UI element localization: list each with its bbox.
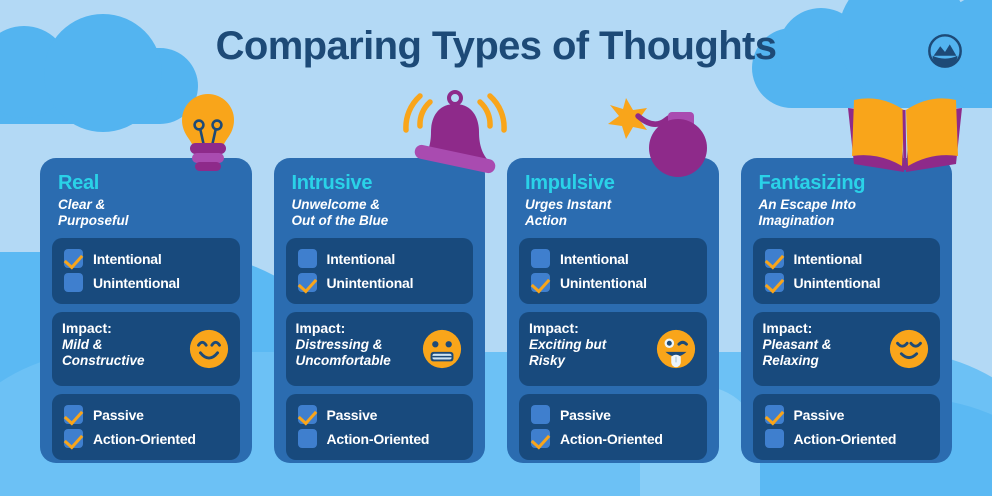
option-passive[interactable]: Passive bbox=[64, 403, 230, 427]
option-passive[interactable]: Passive bbox=[765, 403, 931, 427]
bomb-icon bbox=[602, 86, 718, 178]
checkbox-action-oriented[interactable] bbox=[298, 429, 317, 448]
checkbox-intentional[interactable] bbox=[64, 249, 83, 268]
page-title: Comparing Types of Thoughts bbox=[0, 24, 992, 69]
impact-label: Impact: bbox=[529, 320, 649, 336]
impact-label: Impact: bbox=[296, 320, 416, 336]
option-label: Unintentional bbox=[327, 275, 414, 291]
card-header: Intrusive Unwelcome & Out of the Blue bbox=[286, 172, 474, 230]
option-unintentional[interactable]: Unintentional bbox=[531, 271, 697, 295]
option-action-oriented[interactable]: Action-Oriented bbox=[64, 427, 230, 451]
impact-text: Impact: Distressing & Uncomfortable bbox=[296, 320, 422, 370]
checkbox-passive[interactable] bbox=[298, 405, 317, 424]
card-header: Real Clear & Purposeful bbox=[52, 172, 240, 230]
impact-value: Exciting but Risky bbox=[529, 337, 649, 370]
checkbox-intentional[interactable] bbox=[298, 249, 317, 268]
open-book-icon bbox=[842, 92, 968, 174]
impact-value: Mild & Constructive bbox=[62, 337, 182, 370]
action-panel: Passive Action-Oriented bbox=[52, 394, 240, 460]
impact-panel: Impact: Mild & Constructive bbox=[52, 312, 240, 386]
option-unintentional[interactable]: Unintentional bbox=[298, 271, 464, 295]
option-passive[interactable]: Passive bbox=[298, 403, 464, 427]
option-intentional[interactable]: Intentional bbox=[531, 247, 697, 271]
thought-card-fantasizing[interactable]: Fantasizing An Escape Into Imagination I… bbox=[741, 158, 953, 463]
thought-card-intrusive[interactable]: Intrusive Unwelcome & Out of the Blue In… bbox=[274, 158, 486, 463]
option-label: Intentional bbox=[93, 251, 162, 267]
checkbox-unintentional[interactable] bbox=[531, 273, 550, 292]
option-label: Passive bbox=[93, 407, 144, 423]
option-unintentional[interactable]: Unintentional bbox=[765, 271, 931, 295]
option-label: Intentional bbox=[794, 251, 863, 267]
impact-value: Distressing & Uncomfortable bbox=[296, 337, 416, 370]
card-title: Fantasizing bbox=[759, 172, 937, 194]
option-label: Action-Oriented bbox=[560, 431, 663, 447]
option-label: Action-Oriented bbox=[794, 431, 897, 447]
grimacing-face-icon bbox=[421, 328, 463, 370]
impact-value: Pleasant & Relaxing bbox=[763, 337, 883, 370]
impact-panel: Impact: Distressing & Uncomfortable bbox=[286, 312, 474, 386]
option-label: Passive bbox=[794, 407, 845, 423]
card-subtitle: Unwelcome & Out of the Blue bbox=[292, 197, 470, 230]
checkbox-unintentional[interactable] bbox=[298, 273, 317, 292]
smiling-face-icon bbox=[188, 328, 230, 370]
relieved-face-icon bbox=[888, 328, 930, 370]
card-title: Real bbox=[58, 172, 236, 194]
option-label: Unintentional bbox=[794, 275, 881, 291]
impact-label: Impact: bbox=[62, 320, 182, 336]
option-label: Action-Oriented bbox=[93, 431, 196, 447]
option-label: Unintentional bbox=[560, 275, 647, 291]
option-unintentional[interactable]: Unintentional bbox=[64, 271, 230, 295]
card-subtitle: Clear & Purposeful bbox=[58, 197, 236, 230]
option-action-oriented[interactable]: Action-Oriented bbox=[298, 427, 464, 451]
lightbulb-icon bbox=[160, 90, 256, 172]
intention-panel: Intentional Unintentional bbox=[52, 238, 240, 304]
bell-icon bbox=[396, 84, 512, 178]
impact-label: Impact: bbox=[763, 320, 883, 336]
option-label: Unintentional bbox=[93, 275, 180, 291]
card-subtitle: An Escape Into Imagination bbox=[759, 197, 937, 230]
checkbox-action-oriented[interactable] bbox=[64, 429, 83, 448]
infographic-canvas: Comparing Types of Thoughts bbox=[0, 0, 992, 496]
option-action-oriented[interactable]: Action-Oriented bbox=[765, 427, 931, 451]
action-panel: Passive Action-Oriented bbox=[519, 394, 707, 460]
option-label: Action-Oriented bbox=[327, 431, 430, 447]
winking-tongue-face-icon bbox=[655, 328, 697, 370]
impact-text: Impact: Mild & Constructive bbox=[62, 320, 188, 370]
option-label: Passive bbox=[327, 407, 378, 423]
impact-panel: Impact: Exciting but Risky bbox=[519, 312, 707, 386]
action-panel: Passive Action-Oriented bbox=[753, 394, 941, 460]
option-passive[interactable]: Passive bbox=[531, 403, 697, 427]
impact-text: Impact: Exciting but Risky bbox=[529, 320, 655, 370]
mountain-circle-logo-icon bbox=[926, 32, 964, 70]
thought-card-real[interactable]: Real Clear & Purposeful Intentional Unin… bbox=[40, 158, 252, 463]
checkbox-unintentional[interactable] bbox=[64, 273, 83, 292]
thought-type-cards: Real Clear & Purposeful Intentional Unin… bbox=[40, 158, 952, 463]
card-header: Fantasizing An Escape Into Imagination bbox=[753, 172, 941, 230]
thought-card-impulsive[interactable]: Impulsive Urges Instant Action Intention… bbox=[507, 158, 719, 463]
card-header: Impulsive Urges Instant Action bbox=[519, 172, 707, 230]
checkbox-action-oriented[interactable] bbox=[531, 429, 550, 448]
option-action-oriented[interactable]: Action-Oriented bbox=[531, 427, 697, 451]
checkbox-intentional[interactable] bbox=[765, 249, 784, 268]
checkbox-passive[interactable] bbox=[64, 405, 83, 424]
card-subtitle: Urges Instant Action bbox=[525, 197, 703, 230]
intention-panel: Intentional Unintentional bbox=[286, 238, 474, 304]
option-label: Intentional bbox=[560, 251, 629, 267]
checkbox-passive[interactable] bbox=[765, 405, 784, 424]
checkbox-passive[interactable] bbox=[531, 405, 550, 424]
intention-panel: Intentional Unintentional bbox=[519, 238, 707, 304]
checkbox-action-oriented[interactable] bbox=[765, 429, 784, 448]
action-panel: Passive Action-Oriented bbox=[286, 394, 474, 460]
intention-panel: Intentional Unintentional bbox=[753, 238, 941, 304]
option-intentional[interactable]: Intentional bbox=[765, 247, 931, 271]
option-label: Intentional bbox=[327, 251, 396, 267]
option-intentional[interactable]: Intentional bbox=[64, 247, 230, 271]
checkbox-intentional[interactable] bbox=[531, 249, 550, 268]
option-label: Passive bbox=[560, 407, 611, 423]
impact-text: Impact: Pleasant & Relaxing bbox=[763, 320, 889, 370]
option-intentional[interactable]: Intentional bbox=[298, 247, 464, 271]
checkbox-unintentional[interactable] bbox=[765, 273, 784, 292]
impact-panel: Impact: Pleasant & Relaxing bbox=[753, 312, 941, 386]
